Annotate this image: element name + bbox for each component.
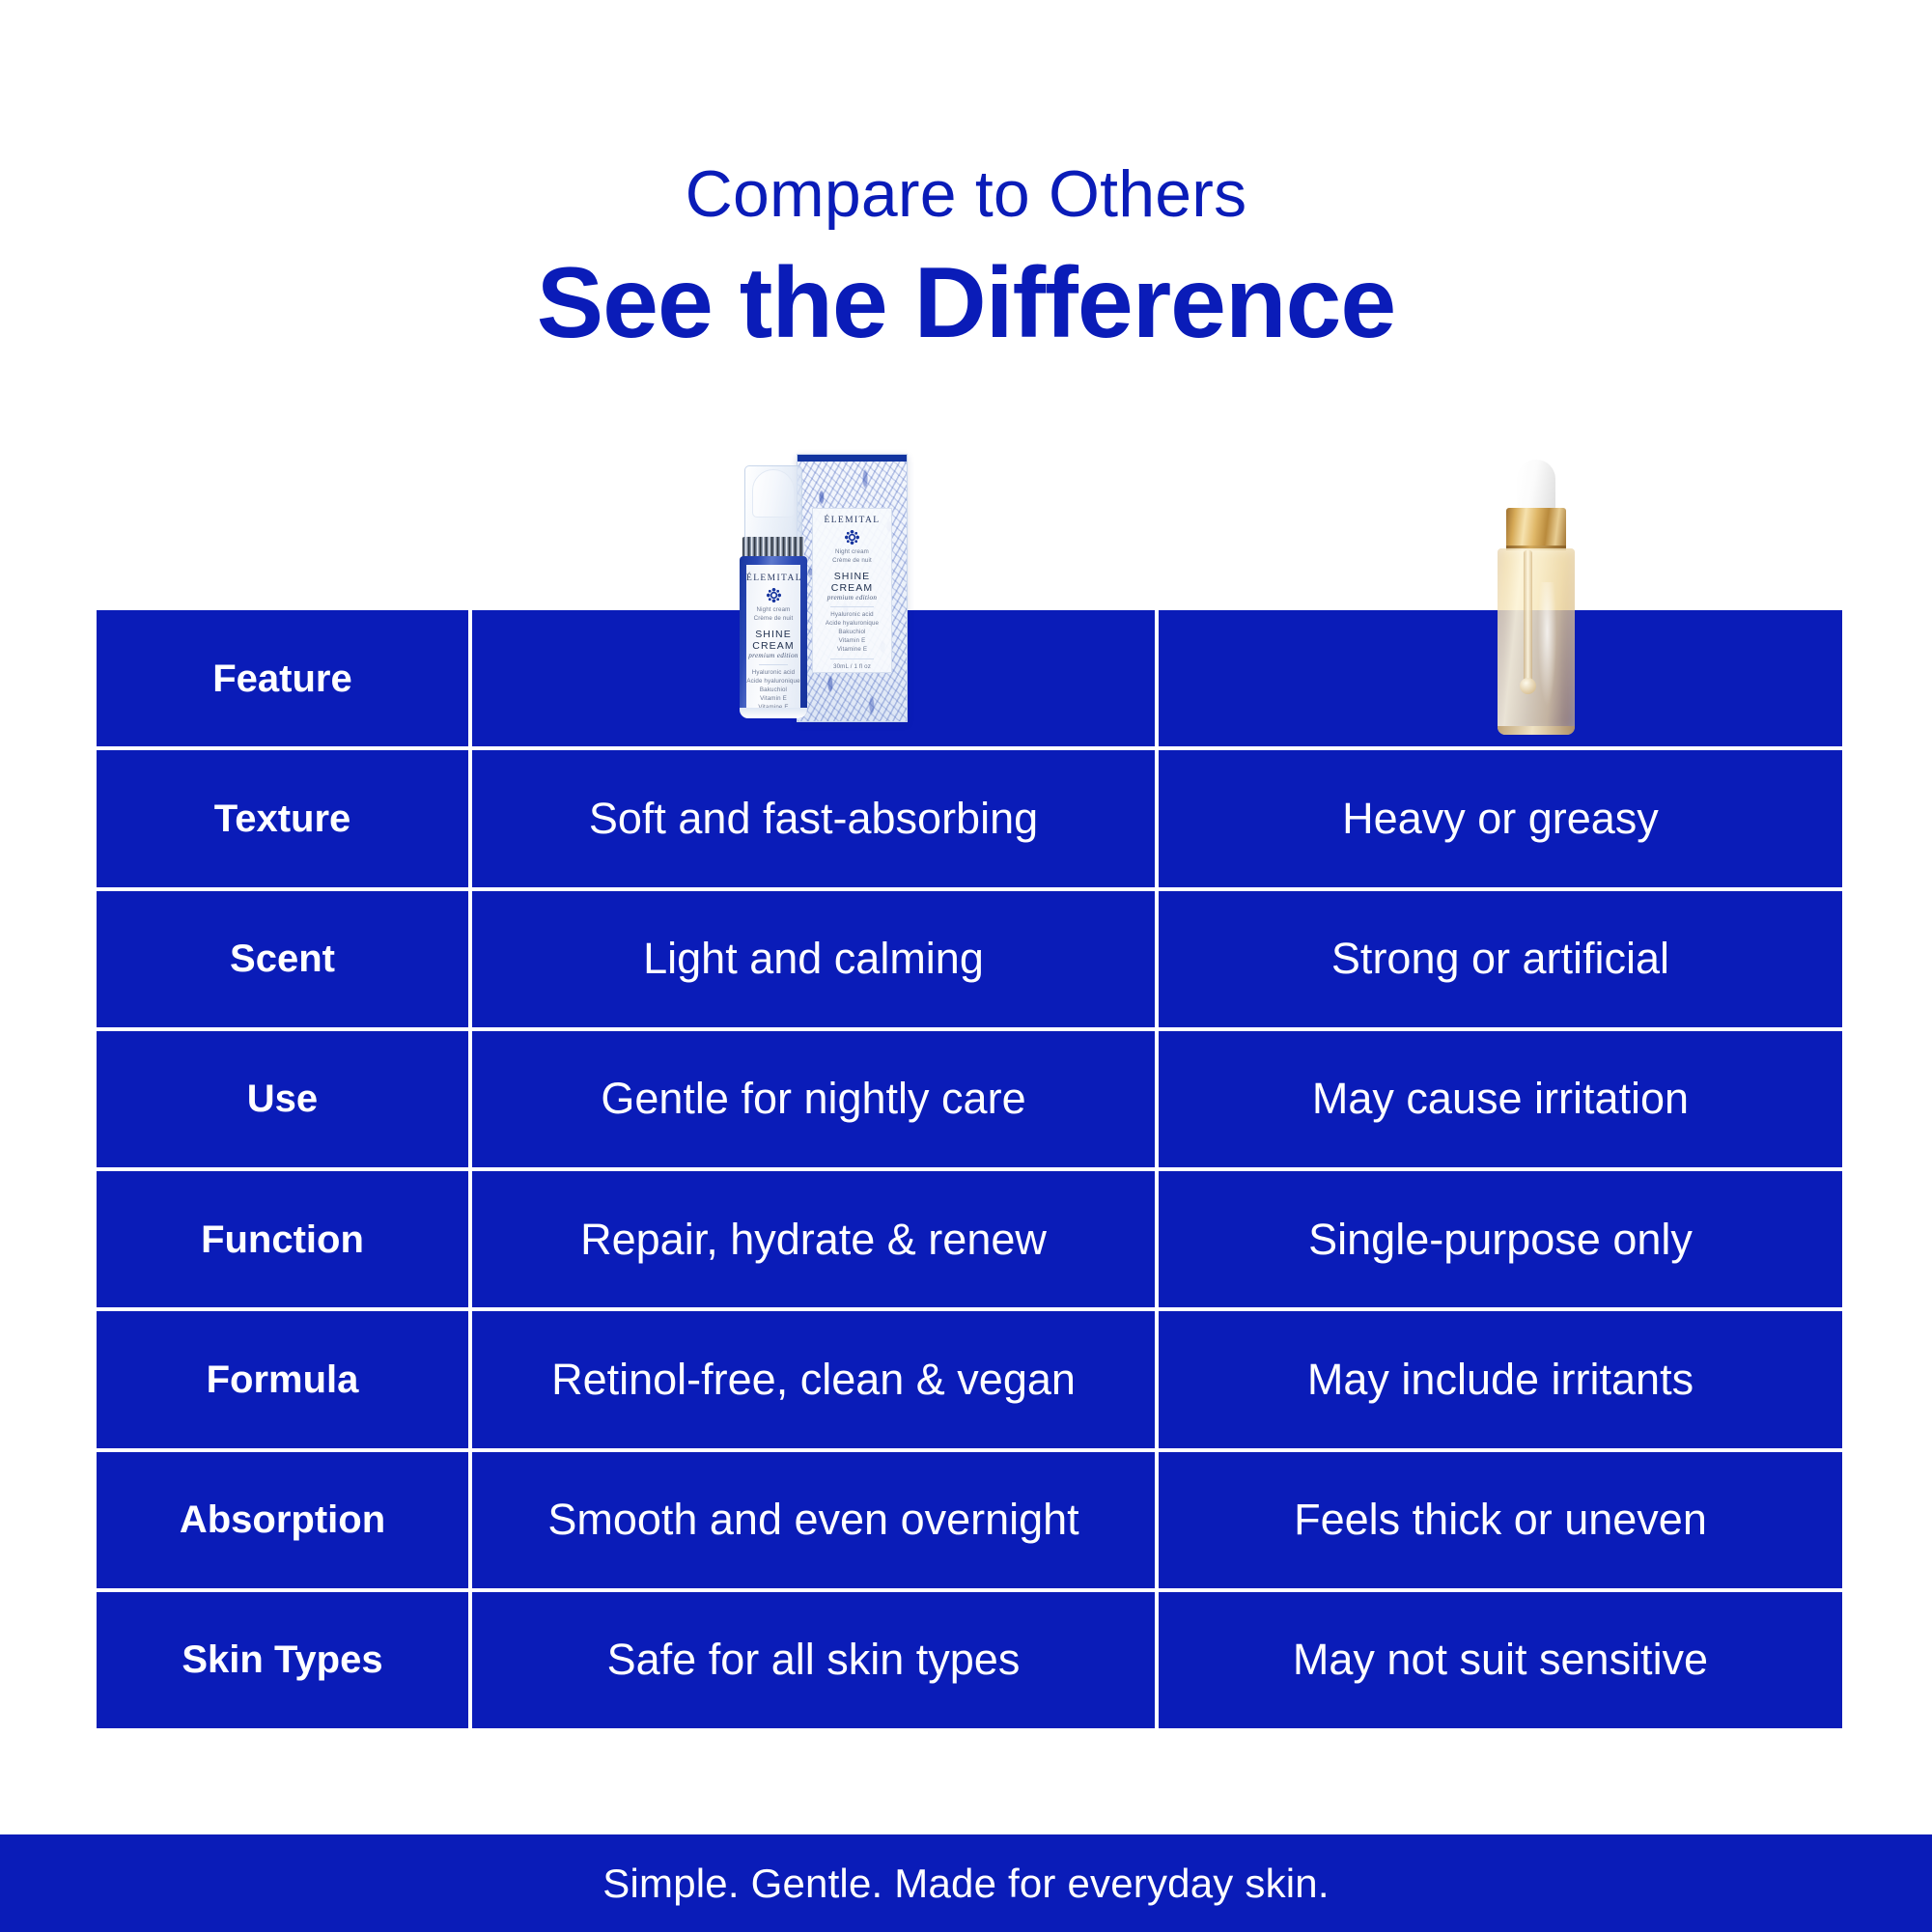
footer-tagline: Simple. Gentle. Made for everyday skin.	[602, 1861, 1329, 1907]
table-header-ours	[472, 610, 1155, 746]
table-row-feature: Scent	[97, 891, 468, 1027]
carton-top-band	[798, 455, 907, 462]
footer-banner: Simple. Gentle. Made for everyday skin.	[0, 1834, 1932, 1932]
table-row-feature: Formula	[97, 1311, 468, 1447]
table-row-ours: Retinol-free, clean & vegan	[472, 1311, 1155, 1447]
carton-subtitle-fr: Crème de nuit	[813, 557, 892, 566]
table-row-theirs: Strong or artificial	[1159, 891, 1842, 1027]
carton-subtitle-en: Night cream	[813, 548, 892, 557]
table-row-theirs: May not suit sensitive	[1159, 1592, 1842, 1728]
carton-brand-name: ÉLEMITAL	[813, 516, 892, 525]
table-row-feature: Skin Types	[97, 1592, 468, 1728]
table-row-ours: Safe for all skin types	[472, 1592, 1155, 1728]
table-row-theirs: May cause irritation	[1159, 1031, 1842, 1167]
pump-cap	[744, 465, 802, 539]
comparison-infographic: Compare to Others See the Difference ÉLE…	[0, 0, 1932, 1932]
table-header-feature: Feature	[97, 610, 468, 746]
page-title: See the Difference	[0, 251, 1932, 356]
table-row-ours: Repair, hydrate & renew	[472, 1171, 1155, 1307]
table-row-feature: Texture	[97, 750, 468, 886]
table-row-feature: Use	[97, 1031, 468, 1167]
serum-gold-collar	[1506, 508, 1566, 550]
table-row-theirs: Single-purpose only	[1159, 1171, 1842, 1307]
eyebrow-heading: Compare to Others	[0, 159, 1932, 230]
carton-product-name: SHINE CREAM	[813, 571, 892, 594]
pump-brand-name: ÉLEMITAL	[746, 574, 800, 583]
heading-block: Compare to Others See the Difference	[0, 159, 1932, 357]
table-row-ours: Light and calming	[472, 891, 1155, 1027]
pump-collar	[742, 537, 804, 558]
table-row-ours: Smooth and even overnight	[472, 1452, 1155, 1588]
comparison-table: Feature Texture Soft and fast-absorbing …	[97, 610, 1834, 1728]
pump-nozzle	[752, 469, 795, 518]
table-row-feature: Absorption	[97, 1452, 468, 1588]
serum-dropper-bulb	[1517, 460, 1555, 514]
carton-divider	[830, 606, 874, 607]
carton-edition: premium edition	[813, 594, 892, 602]
table-row-theirs: Heavy or greasy	[1159, 750, 1842, 886]
table-row-theirs: May include irritants	[1159, 1311, 1842, 1447]
table-row-ours: Soft and fast-absorbing	[472, 750, 1155, 886]
table-row-ours: Gentle for nightly care	[472, 1031, 1155, 1167]
brand-rosette-icon	[845, 530, 859, 545]
table-row-feature: Function	[97, 1171, 468, 1307]
brand-rosette-icon	[767, 588, 781, 602]
table-header-theirs	[1159, 610, 1842, 746]
table-row-theirs: Feels thick or uneven	[1159, 1452, 1842, 1588]
